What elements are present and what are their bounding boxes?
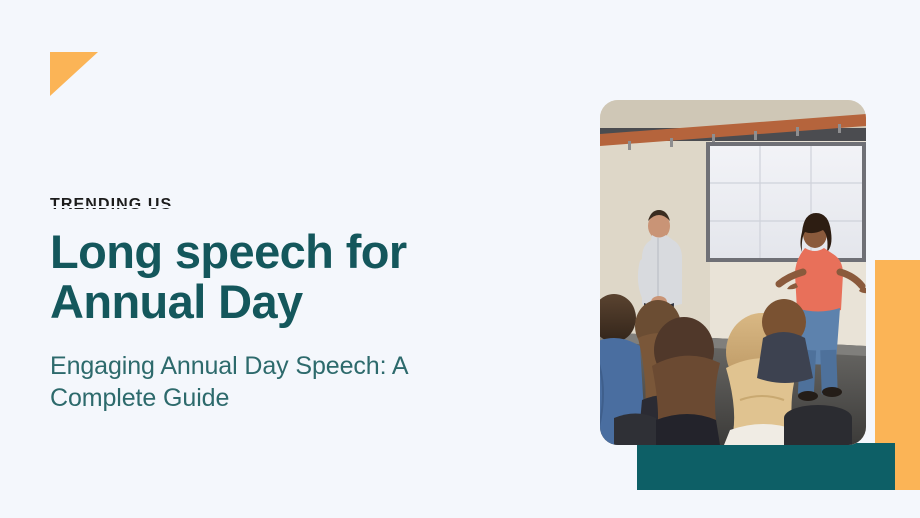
page-subtitle: Engaging Annual Day Speech: A Complete G… [50,350,480,414]
hero-photo [600,100,866,445]
article-banner: TRENDING US Long speech for Annual Day E… [0,0,920,518]
corner-triangle-decoration [50,52,98,96]
brand-logo: TRENDING US [50,197,172,213]
page-title: Long speech for Annual Day [50,227,480,328]
teal-block-decoration [637,443,895,490]
text-column: TRENDING US Long speech for Annual Day E… [50,196,480,414]
